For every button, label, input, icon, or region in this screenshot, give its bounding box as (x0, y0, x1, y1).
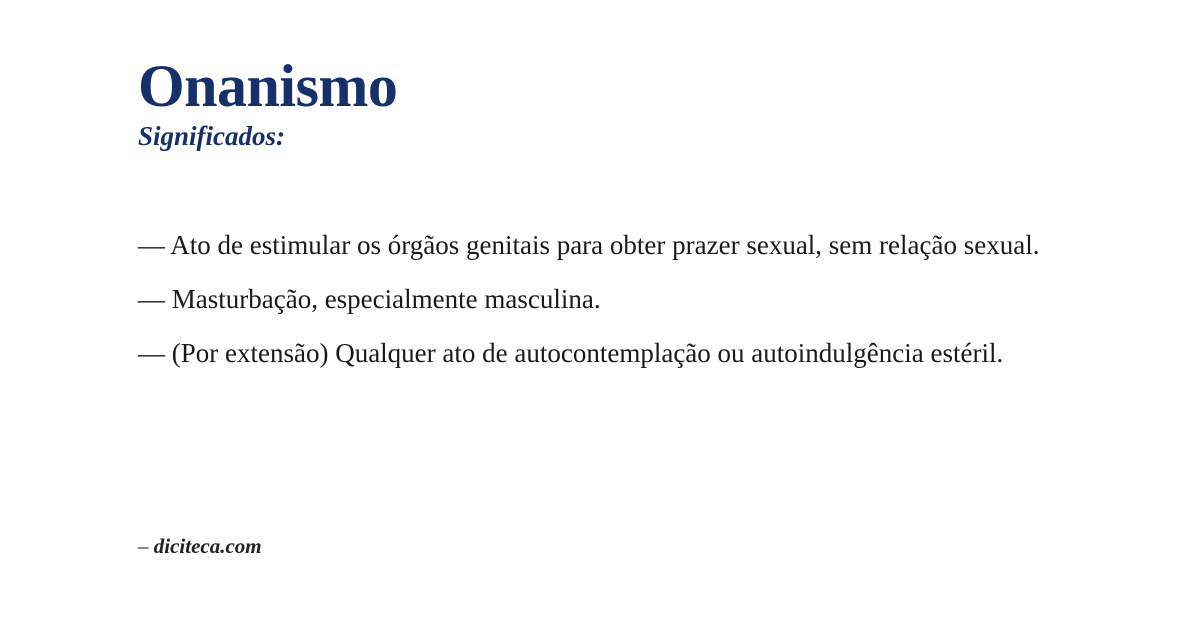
source-attribution: – diciteca.com (138, 534, 262, 559)
definition-dash: — (138, 284, 165, 314)
header-block: Onanismo Significados: (138, 55, 1058, 152)
definition-dash: — (138, 338, 165, 368)
definition-dash: — (138, 230, 165, 260)
definition-card: Onanismo Significados: — Ato de estimula… (0, 0, 1200, 628)
list-item: — (Por extensão) Qualquer ato de autocon… (138, 336, 1048, 370)
source-name: diciteca.com (154, 534, 262, 558)
list-item: — Masturbação, especialmente masculina. (138, 282, 1048, 316)
attribution-dash: – (138, 534, 149, 558)
definition-text: (Por extensão) Qualquer ato de autoconte… (172, 338, 1003, 368)
section-label: Significados: (138, 122, 1058, 152)
definition-text: Masturbação, especialmente masculina. (172, 284, 601, 314)
list-item: — Ato de estimular os órgãos genitais pa… (138, 228, 1048, 262)
definition-text: Ato de estimular os órgãos genitais para… (170, 230, 1039, 260)
page-title: Onanismo (138, 55, 1058, 118)
definitions-list: — Ato de estimular os órgãos genitais pa… (138, 228, 1048, 370)
